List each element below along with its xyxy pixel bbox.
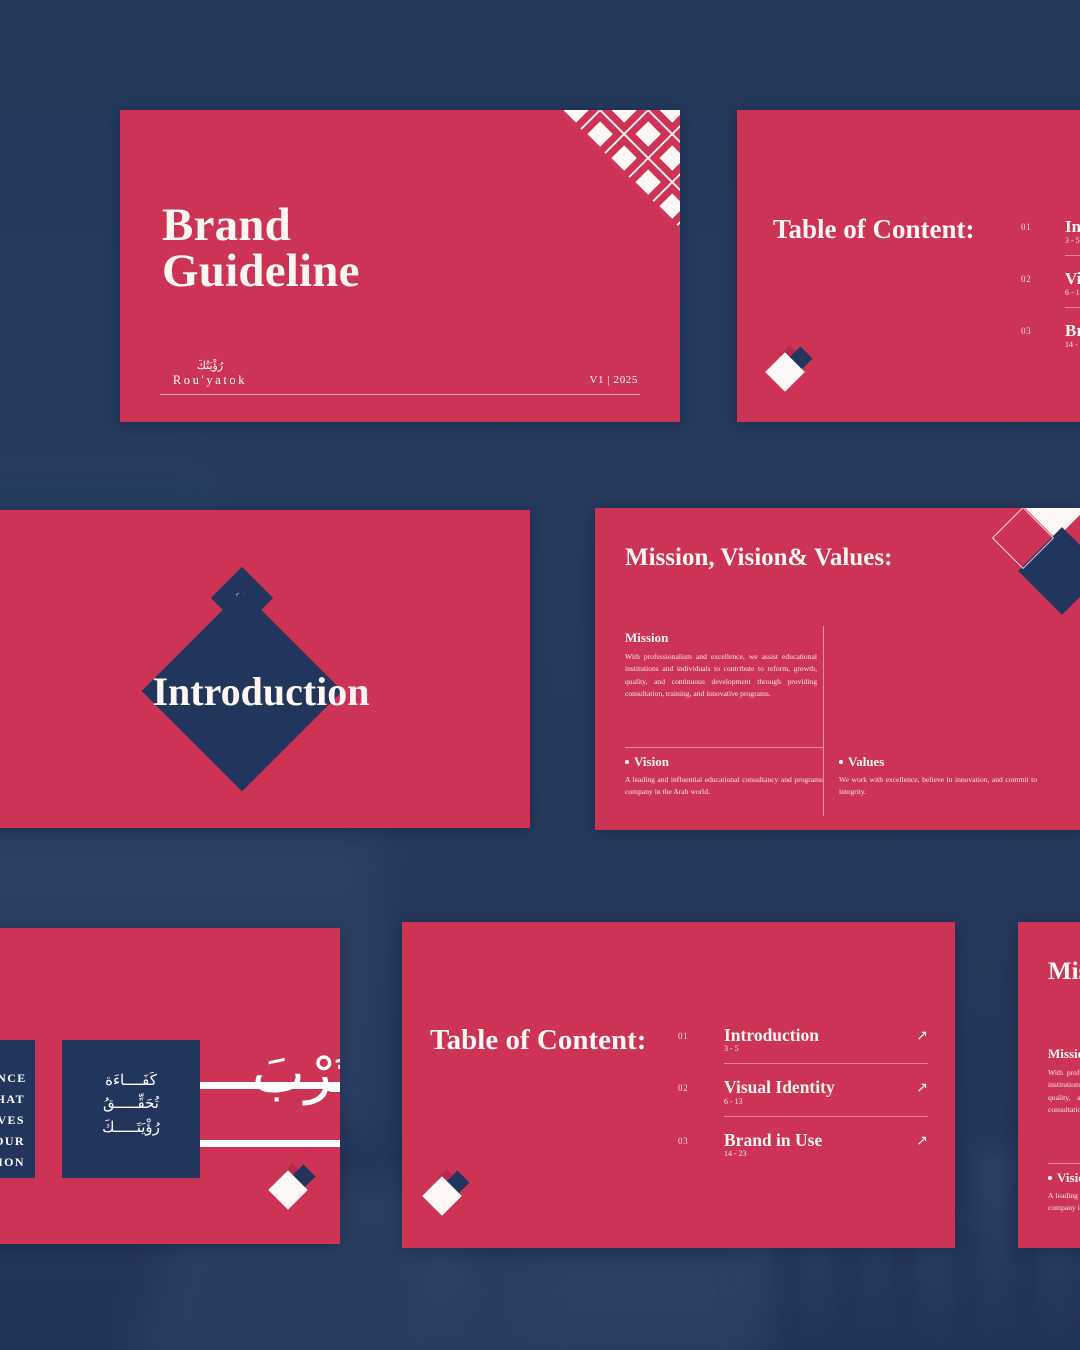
slogan-en-line-3: YOUR VISION [0,1131,25,1173]
page-title: Table of Content: [773,214,975,245]
toc-item-number: 01 [1021,218,1065,232]
toc-item-number: 01 [678,1026,724,1041]
bullet-icon [839,760,843,764]
page-title: Table of Content: [430,1024,646,1057]
list-item[interactable]: 03 Brand in Use 14 - 23 [1021,322,1080,349]
version-label: V1 | 2025 [589,374,638,386]
mission-label: Mission [625,630,817,646]
divider [1065,307,1080,308]
mvv-content-grid: Mission With professionalism and excelle… [625,630,1025,700]
footer-divider [160,394,640,395]
arrow-up-right-icon[interactable]: ↗ [916,1078,928,1097]
slogan-english: EXCELLENCE THAT ACHIEVES YOUR VISION [0,1068,25,1173]
slide-brand-slogan[interactable]: EXCELLENCE THAT ACHIEVES YOUR VISION كَف… [0,928,340,1244]
mission-label: Mission [1048,1046,1080,1062]
toc-item-pages: 6 - 13 [724,1097,916,1106]
toc-item-number: 02 [1021,270,1065,284]
divider-horizontal [1048,1163,1080,1164]
toc-item-number: 03 [1021,322,1065,336]
slogan-ar-line-1: كَفَــــاءَة [62,1070,200,1093]
vision-label: Vision [625,754,823,770]
brand-logo: رُؤْيَتُكَ Rou'yatok [160,361,260,388]
slogan-arabic-display: تَرْبَ [252,1046,340,1102]
toc-item-name: Brand in Use [724,1131,916,1149]
page-title: Brand Guideline [162,202,360,294]
toc-item-number: 02 [678,1078,724,1093]
toc-item-number: 03 [678,1131,724,1146]
bullet-icon [1048,1176,1052,1180]
toc-item-name: Visual Identity [1065,270,1080,288]
diamond-cluster-icon [769,346,815,392]
slide-table-of-content[interactable]: Table of Content: 01 Introduction 3 - 5 … [402,922,955,1248]
slogan-en-line-2: THAT ACHIEVES [0,1089,25,1131]
list-item[interactable]: 03 Brand in Use 14 - 23 ↗ [678,1131,928,1158]
slide-section-introduction[interactable]: 01 Introduction [0,510,530,828]
title-line-1: Brand [162,199,291,251]
diamond-lattice-pattern [552,110,680,228]
diamond-cluster-icon [272,1164,318,1210]
mission-text: With professionalism and excellence, we … [625,651,817,700]
slogan-arabic: كَفَــــاءَة تُحَقِّـــــقُ رُؤْيَتَــــ… [62,1070,200,1140]
mission-text: With professionalism and excellence, we … [1048,1067,1080,1116]
page-title: Mission, Vision& Values: [625,544,892,572]
toc-list: 01 Introduction 3 - 5 02 Visual Identity… [1021,218,1080,349]
corner-diamond-decoration [987,508,1080,638]
slide-mission-vision-values[interactable]: Mission, Vision& Values: Mission With pr… [595,508,1080,830]
slide-table-of-content-partial[interactable]: Table of Content: 01 Introduction 3 - 5 … [737,110,1080,422]
slogan-ar-line-3: رُؤْيَتَـــــكَ [62,1117,200,1140]
toc-item-name: Visual Identity [724,1078,916,1096]
toc-item-pages: 14 - 23 [1065,340,1080,349]
divider-vertical [823,626,824,816]
list-item[interactable]: 01 Introduction 3 - 5 ↗ [678,1026,928,1053]
slide-brand-guideline-title[interactable]: Brand Guideline رُؤْيَتُكَ Rou'yatok V1 … [120,110,680,422]
logo-arabic-text: رُؤْيَتُكَ [160,361,260,372]
toc-item-name: Introduction [724,1026,916,1044]
toc-item-pages: 14 - 23 [724,1149,916,1158]
vision-text: A leading and influential educational co… [625,774,823,799]
vision-label: Vision [1048,1170,1080,1186]
slide-mission-vision-values-partial[interactable]: Mission, Vision& Values: Mission With pr… [1018,922,1080,1248]
divider [724,1116,928,1117]
title-line-2: Guideline [162,245,360,297]
slogan-rule-bottom [200,1140,340,1147]
arrow-up-right-icon[interactable]: ↗ [916,1131,928,1150]
toc-list: 01 Introduction 3 - 5 ↗ 02 Visual Identi… [678,1026,928,1158]
section-title: Introduction [0,668,530,715]
toc-item-name: Introduction [1065,218,1080,236]
logo-latin-text: Rou'yatok [160,373,260,388]
diamond-cluster-icon [426,1170,472,1216]
list-item[interactable]: 01 Introduction 3 - 5 [1021,218,1080,245]
values-text: We work with excellence, believe in inno… [839,774,1037,799]
values-label: Values [839,754,1037,770]
list-item[interactable]: 02 Visual Identity 6 - 13 ↗ [678,1078,928,1105]
page-title: Mission, Vision& Values: [1048,958,1080,986]
divider [1065,255,1080,256]
slogan-ar-line-2: تُحَقِّـــــقُ [62,1093,200,1116]
vision-text: A leading and influential educational co… [1048,1190,1080,1215]
toc-item-pages: 3 - 5 [724,1044,916,1053]
toc-item-pages: 6 - 13 [1065,288,1080,297]
toc-item-pages: 3 - 5 [1065,236,1080,245]
mvv-content-grid: Mission With professionalism and excelle… [1048,1046,1080,1116]
bullet-icon [625,760,629,764]
slogan-en-line-1: EXCELLENCE [0,1068,25,1089]
list-item[interactable]: 02 Visual Identity 6 - 13 [1021,270,1080,297]
arrow-up-right-icon[interactable]: ↗ [916,1026,928,1045]
divider-horizontal [625,747,823,748]
divider [724,1063,928,1064]
toc-item-name: Brand in Use [1065,322,1080,340]
